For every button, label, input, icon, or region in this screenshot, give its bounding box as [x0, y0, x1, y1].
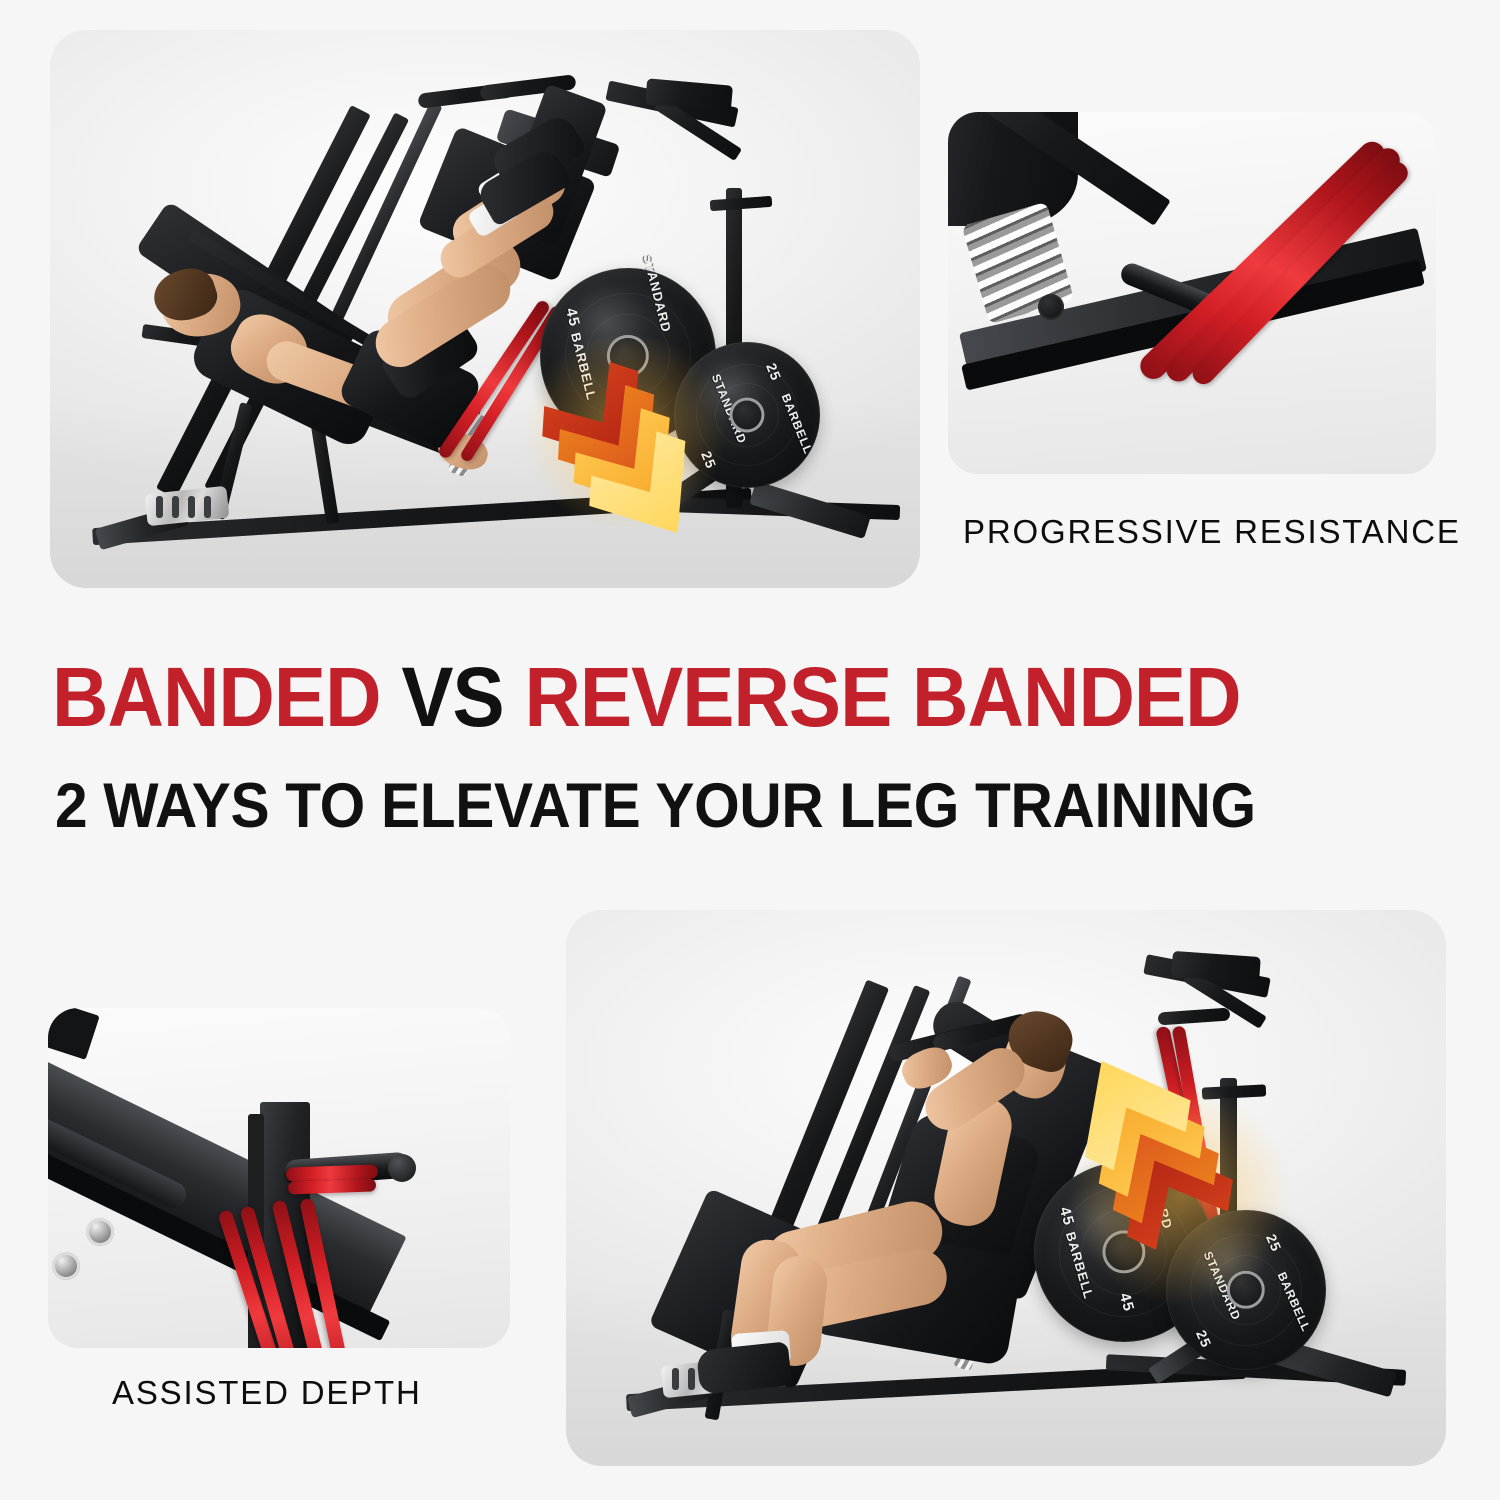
hex-bolt-upper: [86, 1218, 114, 1246]
headline-part-2: VS: [401, 650, 524, 744]
assisted-depth-caption: ASSISTED DEPTH: [112, 1374, 422, 1412]
calf-roller-slot1: [672, 1368, 679, 1390]
band-peg-end-cap: [388, 1154, 416, 1182]
adjustment-hole: [1038, 294, 1064, 320]
plate-weight-top: 45: [563, 307, 582, 329]
headline: BANDED VS REVERSE BANDED: [52, 655, 1452, 739]
promo-graphic: STANDARD 45 BARBELL 45 STANDARD 25 BARBE…: [0, 0, 1500, 1500]
progressive-resistance-detail: [948, 112, 1436, 474]
calf-roller-slot3: [188, 496, 195, 518]
calf-roller-slot2: [688, 1368, 695, 1390]
assisted-depth-detail: [48, 1008, 510, 1348]
calf-roller-slot1: [156, 496, 163, 518]
headline-part-3: REVERSE BANDED: [524, 650, 1240, 744]
banded-leg-press-photo: STANDARD 45 BARBELL 45 STANDARD 25 BARBE…: [50, 30, 920, 588]
reverse-banded-hack-squat-photo: STANDARD 45 BARBELL 45 STANDARD 25 BARBE…: [566, 910, 1446, 1466]
subheading-text: 2 WAYS TO ELEVATE YOUR LEG TRAINING: [55, 775, 1256, 838]
headline-part-1: BANDED: [52, 650, 401, 744]
calf-roller-slot4: [204, 496, 211, 518]
calf-roller-slot2: [172, 496, 179, 518]
hex-bolt-lower: [52, 1252, 80, 1280]
subheading: 2 WAYS TO ELEVATE YOUR LEG TRAINING: [55, 775, 1455, 838]
progressive-resistance-caption: PROGRESSIVE RESISTANCE: [963, 513, 1461, 551]
